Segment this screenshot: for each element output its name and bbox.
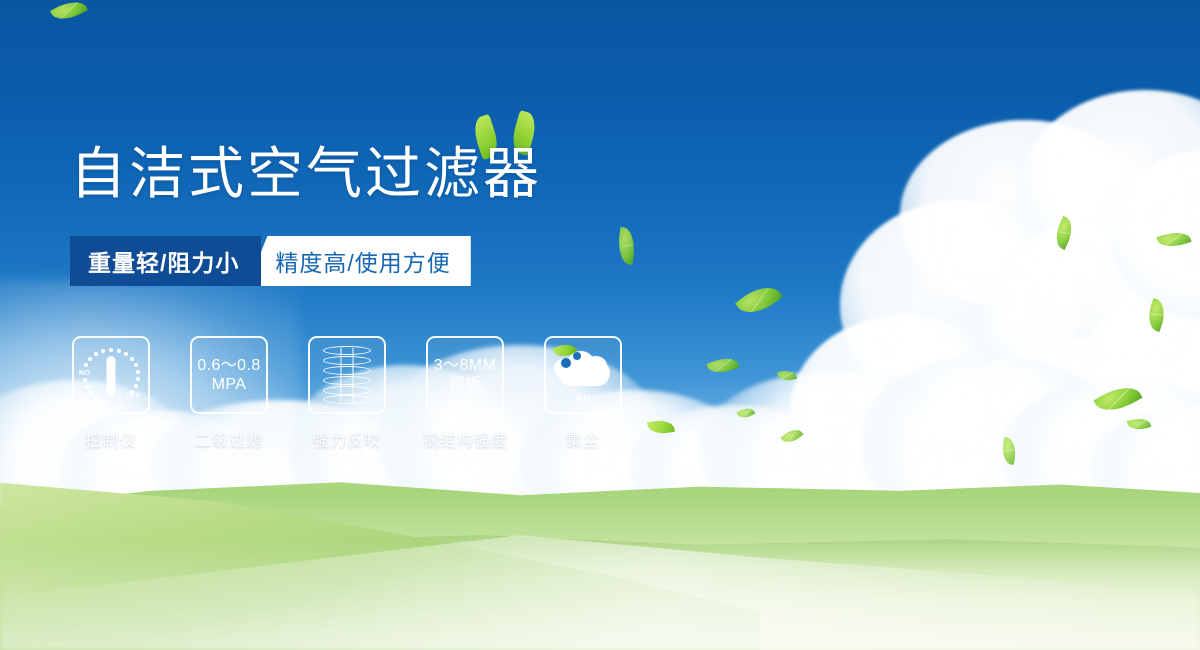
feature-card: 3～8MM 钢板 (426, 336, 504, 414)
pressure-range: 0.6～0.8 (197, 356, 260, 375)
steel-thickness: 3～8MM (434, 356, 496, 375)
tag-primary: 重量轻/阻力小 (70, 236, 261, 286)
feature-item-steel[interactable]: 3～8MM 钢板 钢结构强度 (424, 336, 506, 451)
feature-item-pressure[interactable]: 0.6～0.8 MPA 二级过滤 (188, 336, 270, 451)
banner-content: 自洁式空气过滤器 重量轻/阻力小 精度高/使用方便 NO OFF (0, 0, 1200, 650)
feature-list: NO OFF (70, 336, 624, 451)
feature-label: 强力反吹 (313, 427, 381, 451)
pressure-text-icon: 0.6～0.8 MPA (197, 356, 260, 394)
feature-label: 控制仪 (85, 427, 136, 451)
steel-plate-text-icon: 3～8MM 钢板 (434, 356, 496, 394)
air-cloud-icon: Air (552, 346, 614, 404)
feature-label: 集尘 (566, 427, 600, 451)
promo-banner: 自洁式空气过滤器 重量轻/阻力小 精度高/使用方便 NO OFF (0, 0, 1200, 650)
tag-secondary: 精度高/使用方便 (247, 236, 470, 286)
tag-bar: 重量轻/阻力小 精度高/使用方便 (70, 236, 471, 286)
gauge-label-off: OFF (126, 393, 141, 400)
feature-item-dust[interactable]: Air 集尘 (542, 336, 624, 451)
gauge-label-no: NO (79, 370, 90, 377)
gauge-dial-icon: NO OFF (78, 344, 144, 406)
gauge-needle (107, 356, 116, 396)
feature-label: 钢结构强度 (423, 427, 508, 451)
feature-card: NO OFF (72, 336, 150, 414)
air-label: Air (552, 391, 614, 405)
steel-material: 钢板 (434, 375, 496, 394)
page-title: 自洁式空气过滤器 (70, 142, 542, 206)
cloud-gap (561, 358, 571, 368)
feature-card: Air (544, 336, 622, 414)
feature-label: 二级过滤 (195, 427, 263, 451)
feature-card (308, 336, 386, 414)
leaf-icon (647, 418, 675, 436)
feature-item-control-gauge[interactable]: NO OFF (70, 336, 152, 451)
coil-filter-icon (323, 346, 371, 404)
feature-card: 0.6～0.8 MPA (190, 336, 268, 414)
cloud-gap (573, 352, 581, 360)
feature-item-backblow[interactable]: 强力反吹 (306, 336, 388, 451)
pressure-unit: MPA (197, 375, 260, 394)
